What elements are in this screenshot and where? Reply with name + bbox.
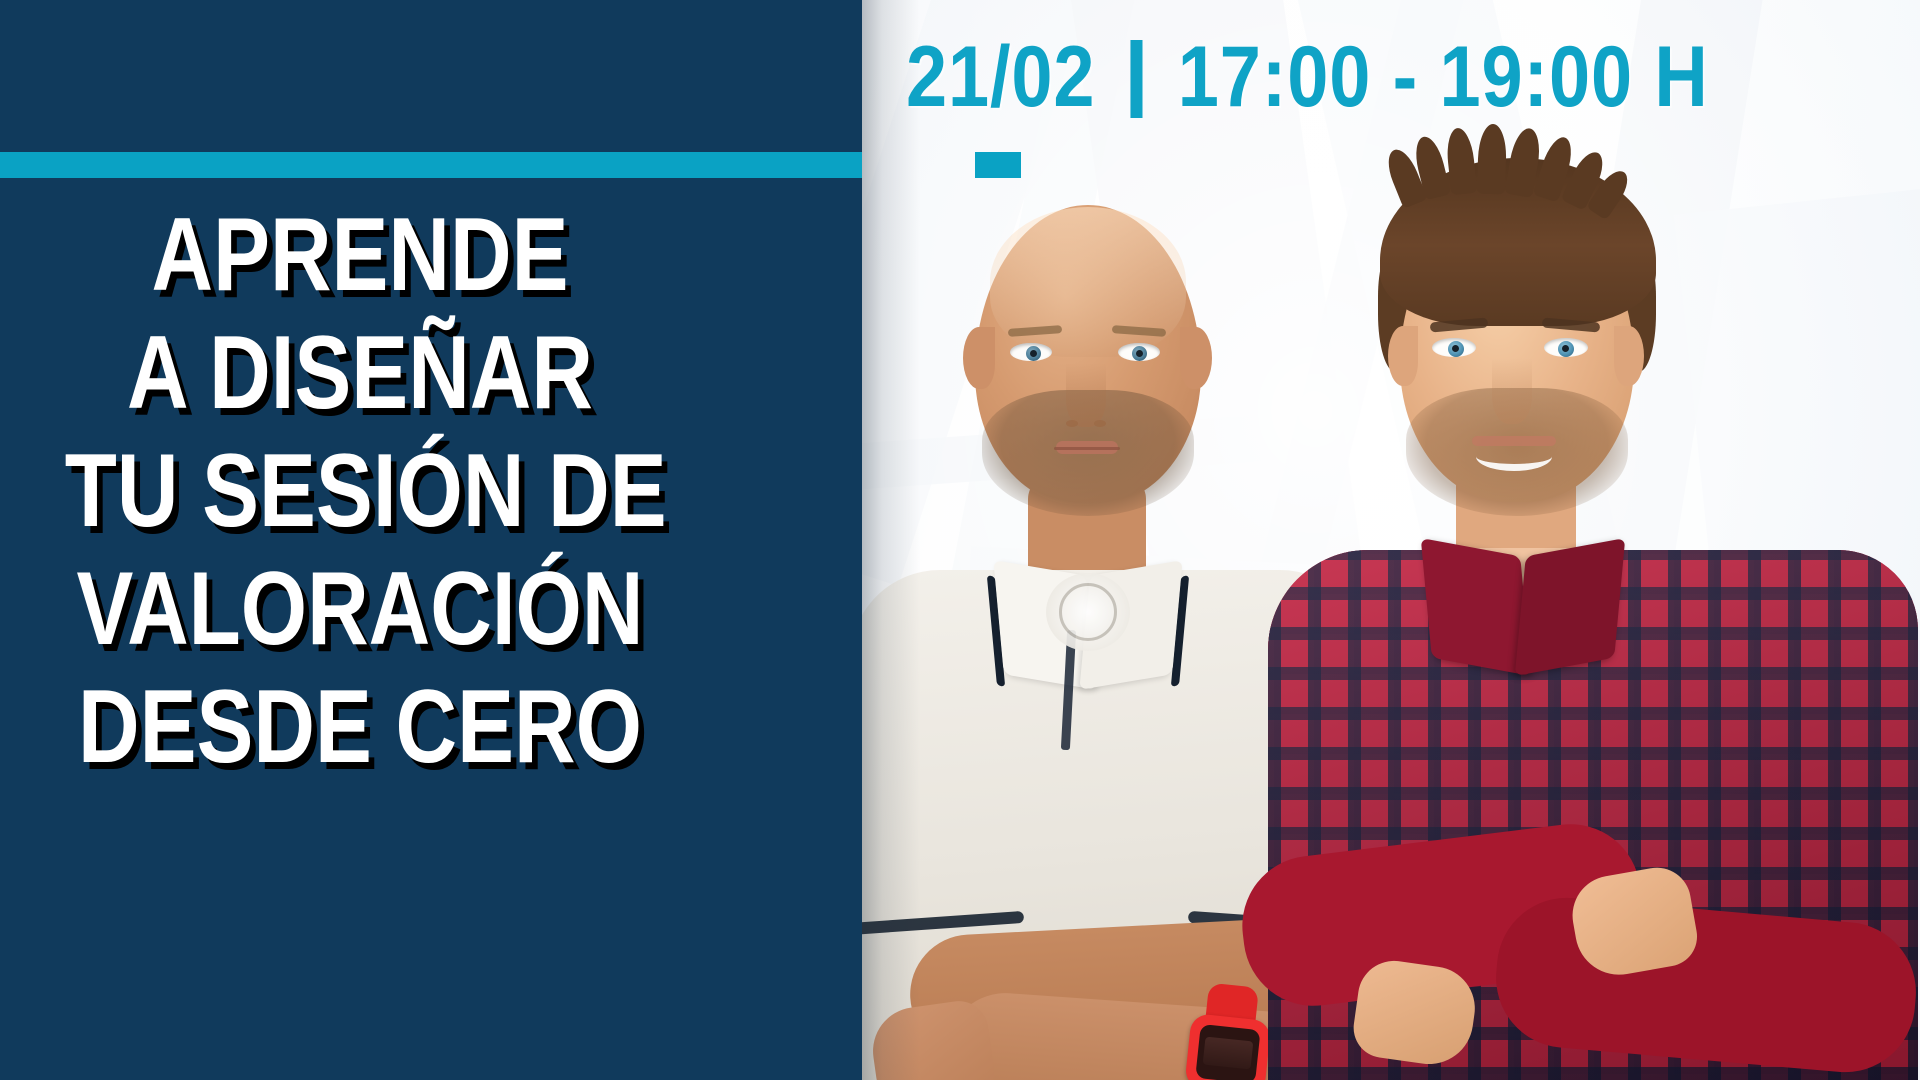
schedule-date: 21/02 — [906, 29, 1095, 125]
pupil-left — [1030, 350, 1037, 357]
nose — [1066, 363, 1106, 427]
watch-lcd-display — [1203, 1037, 1254, 1070]
pupil-right — [1562, 345, 1569, 352]
smile — [1476, 442, 1552, 471]
nostril-left — [1066, 420, 1078, 427]
pupil-left — [1452, 345, 1459, 352]
nostril-right — [1094, 420, 1106, 427]
headline-line-4: VALORACIÓN — [65, 550, 655, 668]
hair-spike — [1445, 127, 1478, 195]
schedule-separator-icon — [1131, 40, 1143, 118]
headline-line-1: APRENDE — [65, 196, 655, 314]
shirt-collar-right — [1515, 538, 1626, 676]
schedule-time-range: 17:00 - 19:00 H — [1178, 29, 1709, 125]
headline-line-3: TU SESIÓN DE — [65, 432, 655, 550]
ear-right — [1614, 326, 1644, 386]
shirt-collar-left — [1421, 538, 1532, 676]
headline-line-5: DESDE CERO — [65, 668, 655, 786]
headline-line-2: A DISEÑAR — [65, 314, 655, 432]
ear-left — [963, 327, 995, 389]
ear-right — [1180, 327, 1212, 389]
polo-chest-logo-ring — [1059, 583, 1117, 641]
cyan-divider-bar — [0, 152, 862, 178]
webinar-promo-banner: WEBINAR GRATUITO APRENDE A DISEÑAR TU SE… — [0, 0, 1920, 1080]
headline-block: APRENDE A DISEÑAR TU SESIÓN DE VALORACIÓ… — [0, 196, 720, 786]
nose — [1492, 358, 1532, 424]
mouth-line — [1054, 447, 1120, 450]
pupil-right — [1136, 350, 1143, 357]
presenter-right — [1260, 150, 1920, 1080]
panel-edge-shadow — [862, 0, 920, 1080]
hair-spike — [1477, 124, 1507, 195]
polo-chest-logo-icon — [1046, 573, 1130, 651]
schedule-datetime: 21/02 17:00 - 19:00 H — [906, 34, 1709, 120]
ear-left — [1388, 326, 1418, 386]
cyan-accent-tab — [975, 152, 1021, 178]
